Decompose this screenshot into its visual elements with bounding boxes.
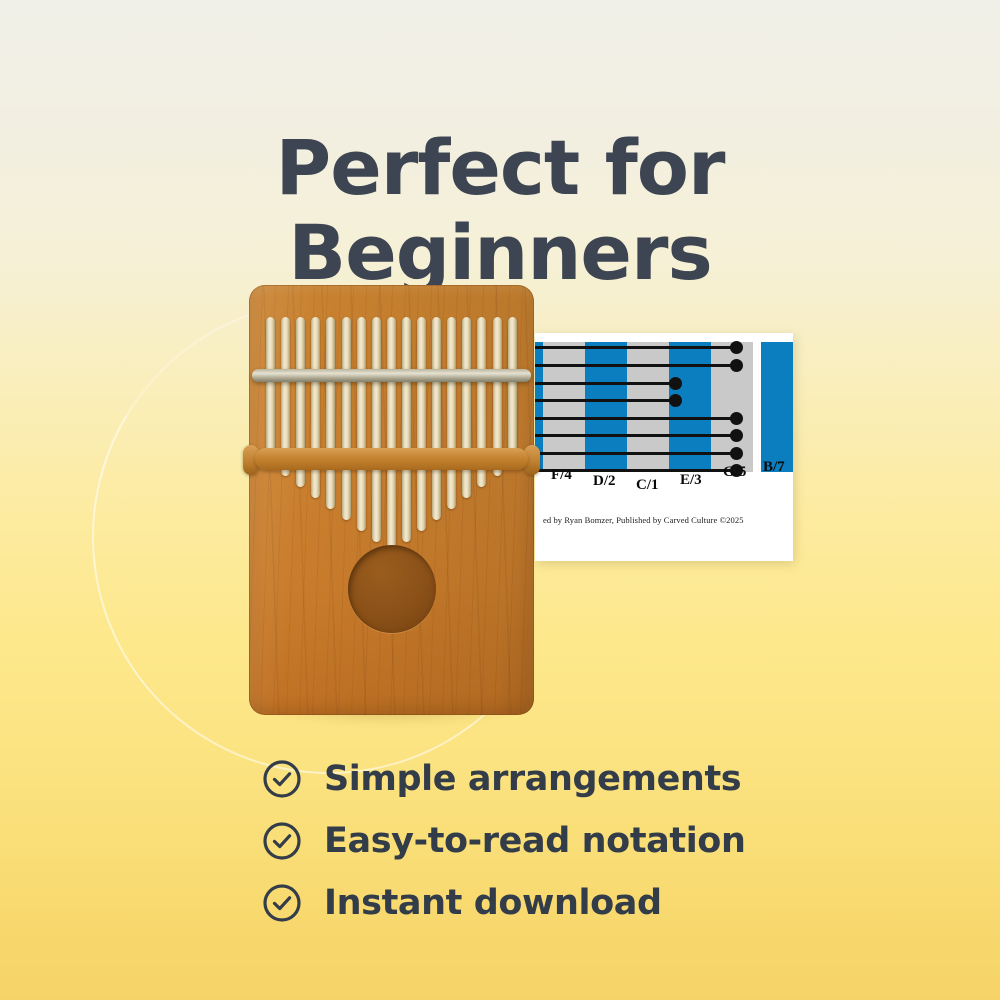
tab-label-C-1: C/1 bbox=[636, 477, 659, 494]
kalimba-metal-bridge-bar bbox=[252, 369, 531, 382]
kalimba-sound-hole bbox=[348, 545, 436, 633]
kalimba-tine-7 bbox=[357, 317, 366, 531]
feature-label-1: Simple arrangements bbox=[324, 759, 741, 799]
note-head-1 bbox=[730, 359, 743, 372]
note-head-0 bbox=[730, 341, 743, 354]
tab-staff-lines bbox=[535, 342, 793, 472]
staff-line-6 bbox=[535, 452, 738, 455]
kalimba-wooden-bridge bbox=[255, 448, 528, 470]
tab-note-labels: F/4D/2C/1E/3G/5B/7 bbox=[535, 459, 793, 491]
kalimba-tine-11 bbox=[417, 317, 426, 531]
headline-line-2: Beginners bbox=[0, 214, 1000, 292]
kalimba-tine-4 bbox=[311, 317, 320, 498]
feature-label-2: Easy-to-read notation bbox=[324, 821, 745, 861]
feature-list: Simple arrangementsEasy-to-read notation… bbox=[262, 748, 782, 934]
kalimba-tine-17 bbox=[508, 317, 517, 465]
kalimba-tab-chart bbox=[535, 342, 793, 472]
feature-item-3: Instant download bbox=[262, 872, 782, 934]
card-credit-text: ed by Ryan Bomzer, Published by Carved C… bbox=[543, 515, 789, 525]
kalimba-tines bbox=[249, 285, 534, 715]
feature-item-2: Easy-to-read notation bbox=[262, 810, 782, 872]
staff-line-0 bbox=[535, 346, 738, 349]
tab-label-E-3: E/3 bbox=[680, 472, 702, 489]
kalimba-tine-9 bbox=[387, 317, 396, 553]
check-circle-icon bbox=[262, 759, 302, 799]
kalimba-instrument bbox=[249, 285, 534, 723]
note-head-2 bbox=[669, 377, 682, 390]
kalimba-tine-10 bbox=[402, 317, 411, 542]
tab-label-F-4: F/4 bbox=[551, 467, 572, 484]
note-head-4 bbox=[730, 412, 743, 425]
poster-canvas: Perfect for Beginners F/4D/2C/1E/3G/5B/7… bbox=[0, 0, 1000, 1000]
staff-line-4 bbox=[535, 417, 738, 420]
tab-label-B-7: B/7 bbox=[763, 459, 785, 476]
staff-line-1 bbox=[535, 364, 738, 367]
feature-label-3: Instant download bbox=[324, 883, 662, 923]
staff-line-2 bbox=[535, 382, 677, 385]
check-circle-icon bbox=[262, 821, 302, 861]
tab-label-D-2: D/2 bbox=[593, 473, 616, 490]
kalimba-tine-12 bbox=[432, 317, 441, 520]
staff-line-3 bbox=[535, 399, 677, 402]
kalimba-tine-6 bbox=[342, 317, 351, 520]
kalimba-tine-8 bbox=[372, 317, 381, 542]
check-circle-icon bbox=[262, 883, 302, 923]
kalimba-tine-1 bbox=[266, 317, 275, 465]
feature-item-1: Simple arrangements bbox=[262, 748, 782, 810]
note-head-5 bbox=[730, 429, 743, 442]
kalimba-tine-13 bbox=[447, 317, 456, 509]
page-title: Perfect for Beginners bbox=[0, 129, 1000, 292]
kalimba-tine-5 bbox=[326, 317, 335, 509]
headline-line-1: Perfect for bbox=[0, 129, 1000, 207]
staff-line-5 bbox=[535, 434, 738, 437]
tab-label-G-5: G/5 bbox=[723, 464, 746, 481]
note-head-3 bbox=[669, 394, 682, 407]
notation-card: F/4D/2C/1E/3G/5B/7 ed by Ryan Bomzer, Pu… bbox=[535, 333, 793, 561]
kalimba-tine-14 bbox=[462, 317, 471, 498]
